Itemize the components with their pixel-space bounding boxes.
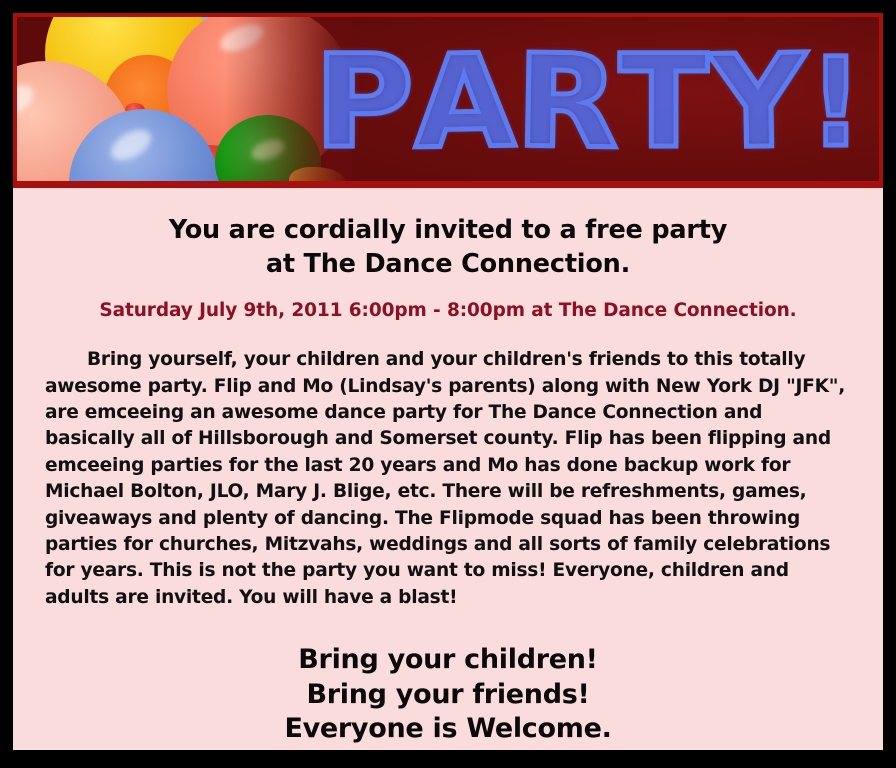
balloon-orange (103, 55, 199, 165)
headline-line-2: at The Dance Connection. (39, 248, 857, 282)
banner-photo: P A R T Y ! (17, 17, 879, 181)
flyer-content-frame: P A R T Y ! You are cordially invited to… (13, 13, 883, 750)
flyer-body: You are cordially invited to a free part… (13, 188, 883, 747)
balloon-highlight (106, 124, 156, 167)
headline-line-1: You are cordially invited to a free part… (39, 214, 857, 248)
balloon-red (147, 145, 267, 181)
closing-line-3: Everyone is Welcome. (39, 712, 857, 747)
balloon-highlight (17, 79, 39, 122)
balloon-navy (81, 83, 189, 181)
balloon-blue (69, 109, 219, 181)
balloon-salmon (167, 17, 352, 178)
balloon-peach (17, 61, 134, 181)
balloon-teal (177, 17, 257, 57)
event-description: Bring yourself, your children and your c… (45, 347, 851, 611)
balloon-highlight (217, 19, 268, 57)
closing-line-1: Bring your children! (39, 643, 857, 678)
closing-message: Bring your children! Bring your friends!… (39, 643, 857, 747)
event-date-time: Saturday July 9th, 2011 6:00pm - 8:00pm … (39, 300, 857, 321)
balloon-yellow-neck (289, 167, 347, 181)
page-title: You are cordially invited to a free part… (39, 214, 857, 281)
balloon-red-small (125, 103, 145, 117)
balloon-highlight (249, 136, 287, 165)
closing-line-2: Bring your friends! (39, 678, 857, 713)
banner-header: P A R T Y ! (13, 13, 883, 188)
balloon-green (215, 115, 321, 181)
balloon-yellow (45, 17, 210, 136)
balloons-image (17, 17, 352, 181)
party-flyer: P A R T Y ! You are cordially invited to… (0, 0, 896, 768)
